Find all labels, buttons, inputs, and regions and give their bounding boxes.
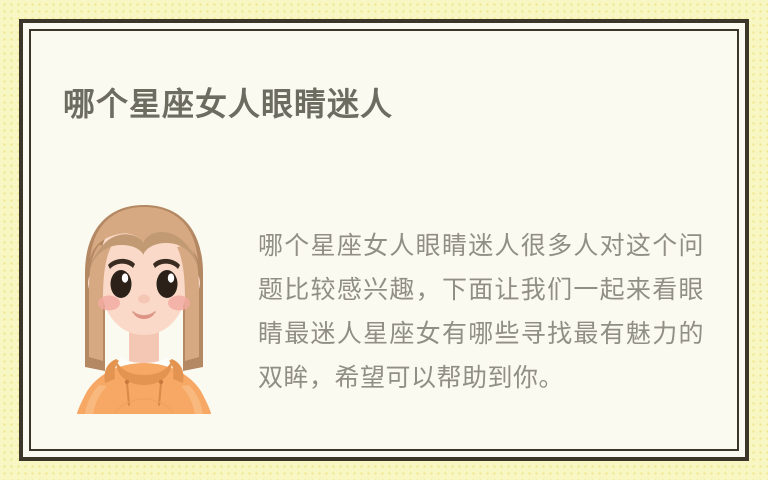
eye-left bbox=[111, 270, 132, 298]
avatar-svg bbox=[59, 199, 229, 414]
eye-highlight-right bbox=[168, 273, 174, 282]
eye-right bbox=[157, 270, 178, 298]
cheek-right bbox=[168, 296, 190, 311]
woman-avatar-illustration bbox=[59, 199, 229, 414]
drawstring-eyelet-right bbox=[159, 380, 163, 384]
nose-shape bbox=[138, 295, 150, 304]
article-card: 哪个星座女人眼睛迷人 bbox=[31, 31, 737, 449]
page-title: 哪个星座女人眼睛迷人 bbox=[63, 84, 393, 124]
eye-highlight-left bbox=[122, 273, 128, 282]
drawstring-eyelet-left bbox=[125, 380, 129, 384]
page-background: 哪个星座女人眼睛迷人 bbox=[0, 0, 768, 480]
cheek-left bbox=[98, 296, 120, 311]
article-body-text: 哪个星座女人眼睛迷人很多人对这个问题比较感兴趣，下面让我们一起来看眼睛最迷人星座… bbox=[258, 224, 704, 400]
